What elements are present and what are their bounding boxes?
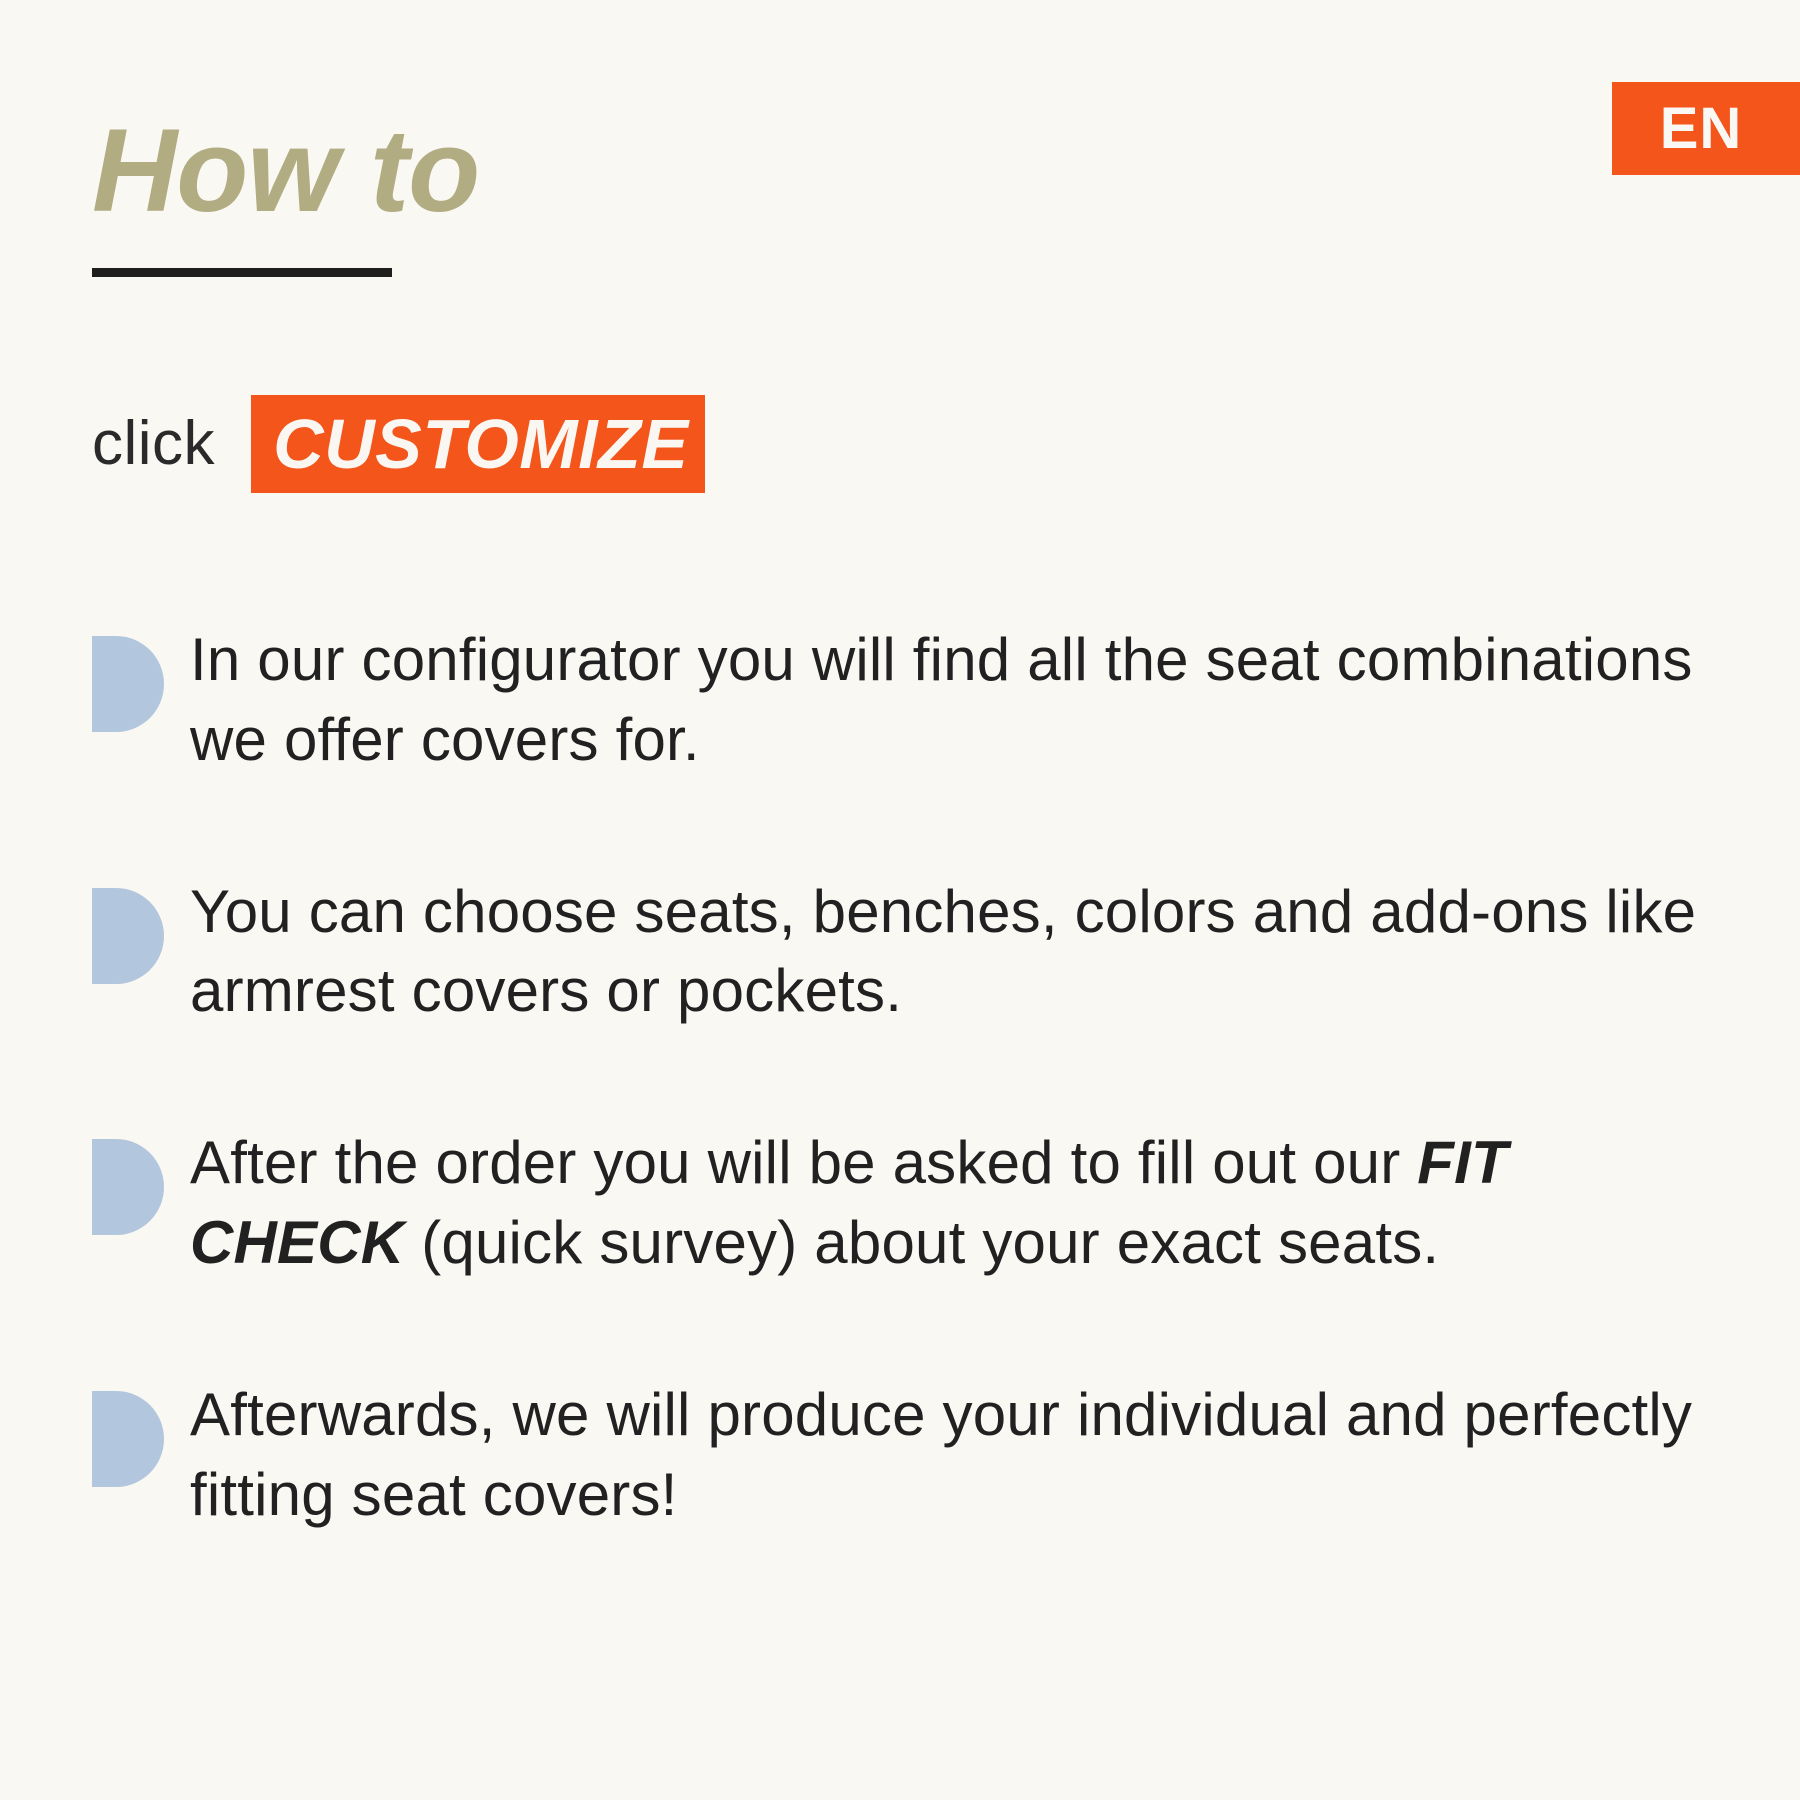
list-item-text: After the order you will be asked to fil…: [172, 1123, 1732, 1283]
list-item: You can choose seats, benches, colors an…: [92, 872, 1752, 1032]
d-shape-bullet-icon: [92, 1391, 164, 1487]
list-item-text: You can choose seats, benches, colors an…: [172, 872, 1732, 1032]
d-shape-bullet-icon: [92, 1139, 164, 1235]
list-item-text-run: You can choose seats, benches, colors an…: [190, 878, 1696, 1025]
list-item-text-run: Afterwards, we will produce your individ…: [190, 1381, 1692, 1528]
list-item-text-run: (quick survey) about your exact seats.: [404, 1209, 1439, 1276]
list-item: Afterwards, we will produce your individ…: [92, 1375, 1752, 1535]
language-badge-label: EN: [1660, 100, 1743, 158]
list-item: After the order you will be asked to fil…: [92, 1123, 1752, 1283]
page-title: How to: [92, 112, 479, 230]
cta-prefix-label: click: [92, 413, 215, 475]
language-badge[interactable]: EN: [1612, 82, 1800, 175]
heading-block: How to: [92, 112, 479, 277]
cta-line: click CUSTOMIZE: [92, 395, 705, 493]
d-shape-bullet-icon: [92, 888, 164, 984]
list-item-text-run: After the order you will be asked to fil…: [190, 1129, 1417, 1196]
customize-button-label[interactable]: CUSTOMIZE: [251, 395, 704, 493]
instruction-list: In our configurator you will find all th…: [92, 620, 1752, 1534]
list-item: In our configurator you will find all th…: [92, 620, 1752, 780]
d-shape-bullet-icon: [92, 636, 164, 732]
list-item-text: Afterwards, we will produce your individ…: [172, 1375, 1732, 1535]
list-item-text: In our configurator you will find all th…: [172, 620, 1732, 780]
title-underline-rule: [92, 268, 392, 277]
list-item-text-run: In our configurator you will find all th…: [190, 626, 1693, 773]
